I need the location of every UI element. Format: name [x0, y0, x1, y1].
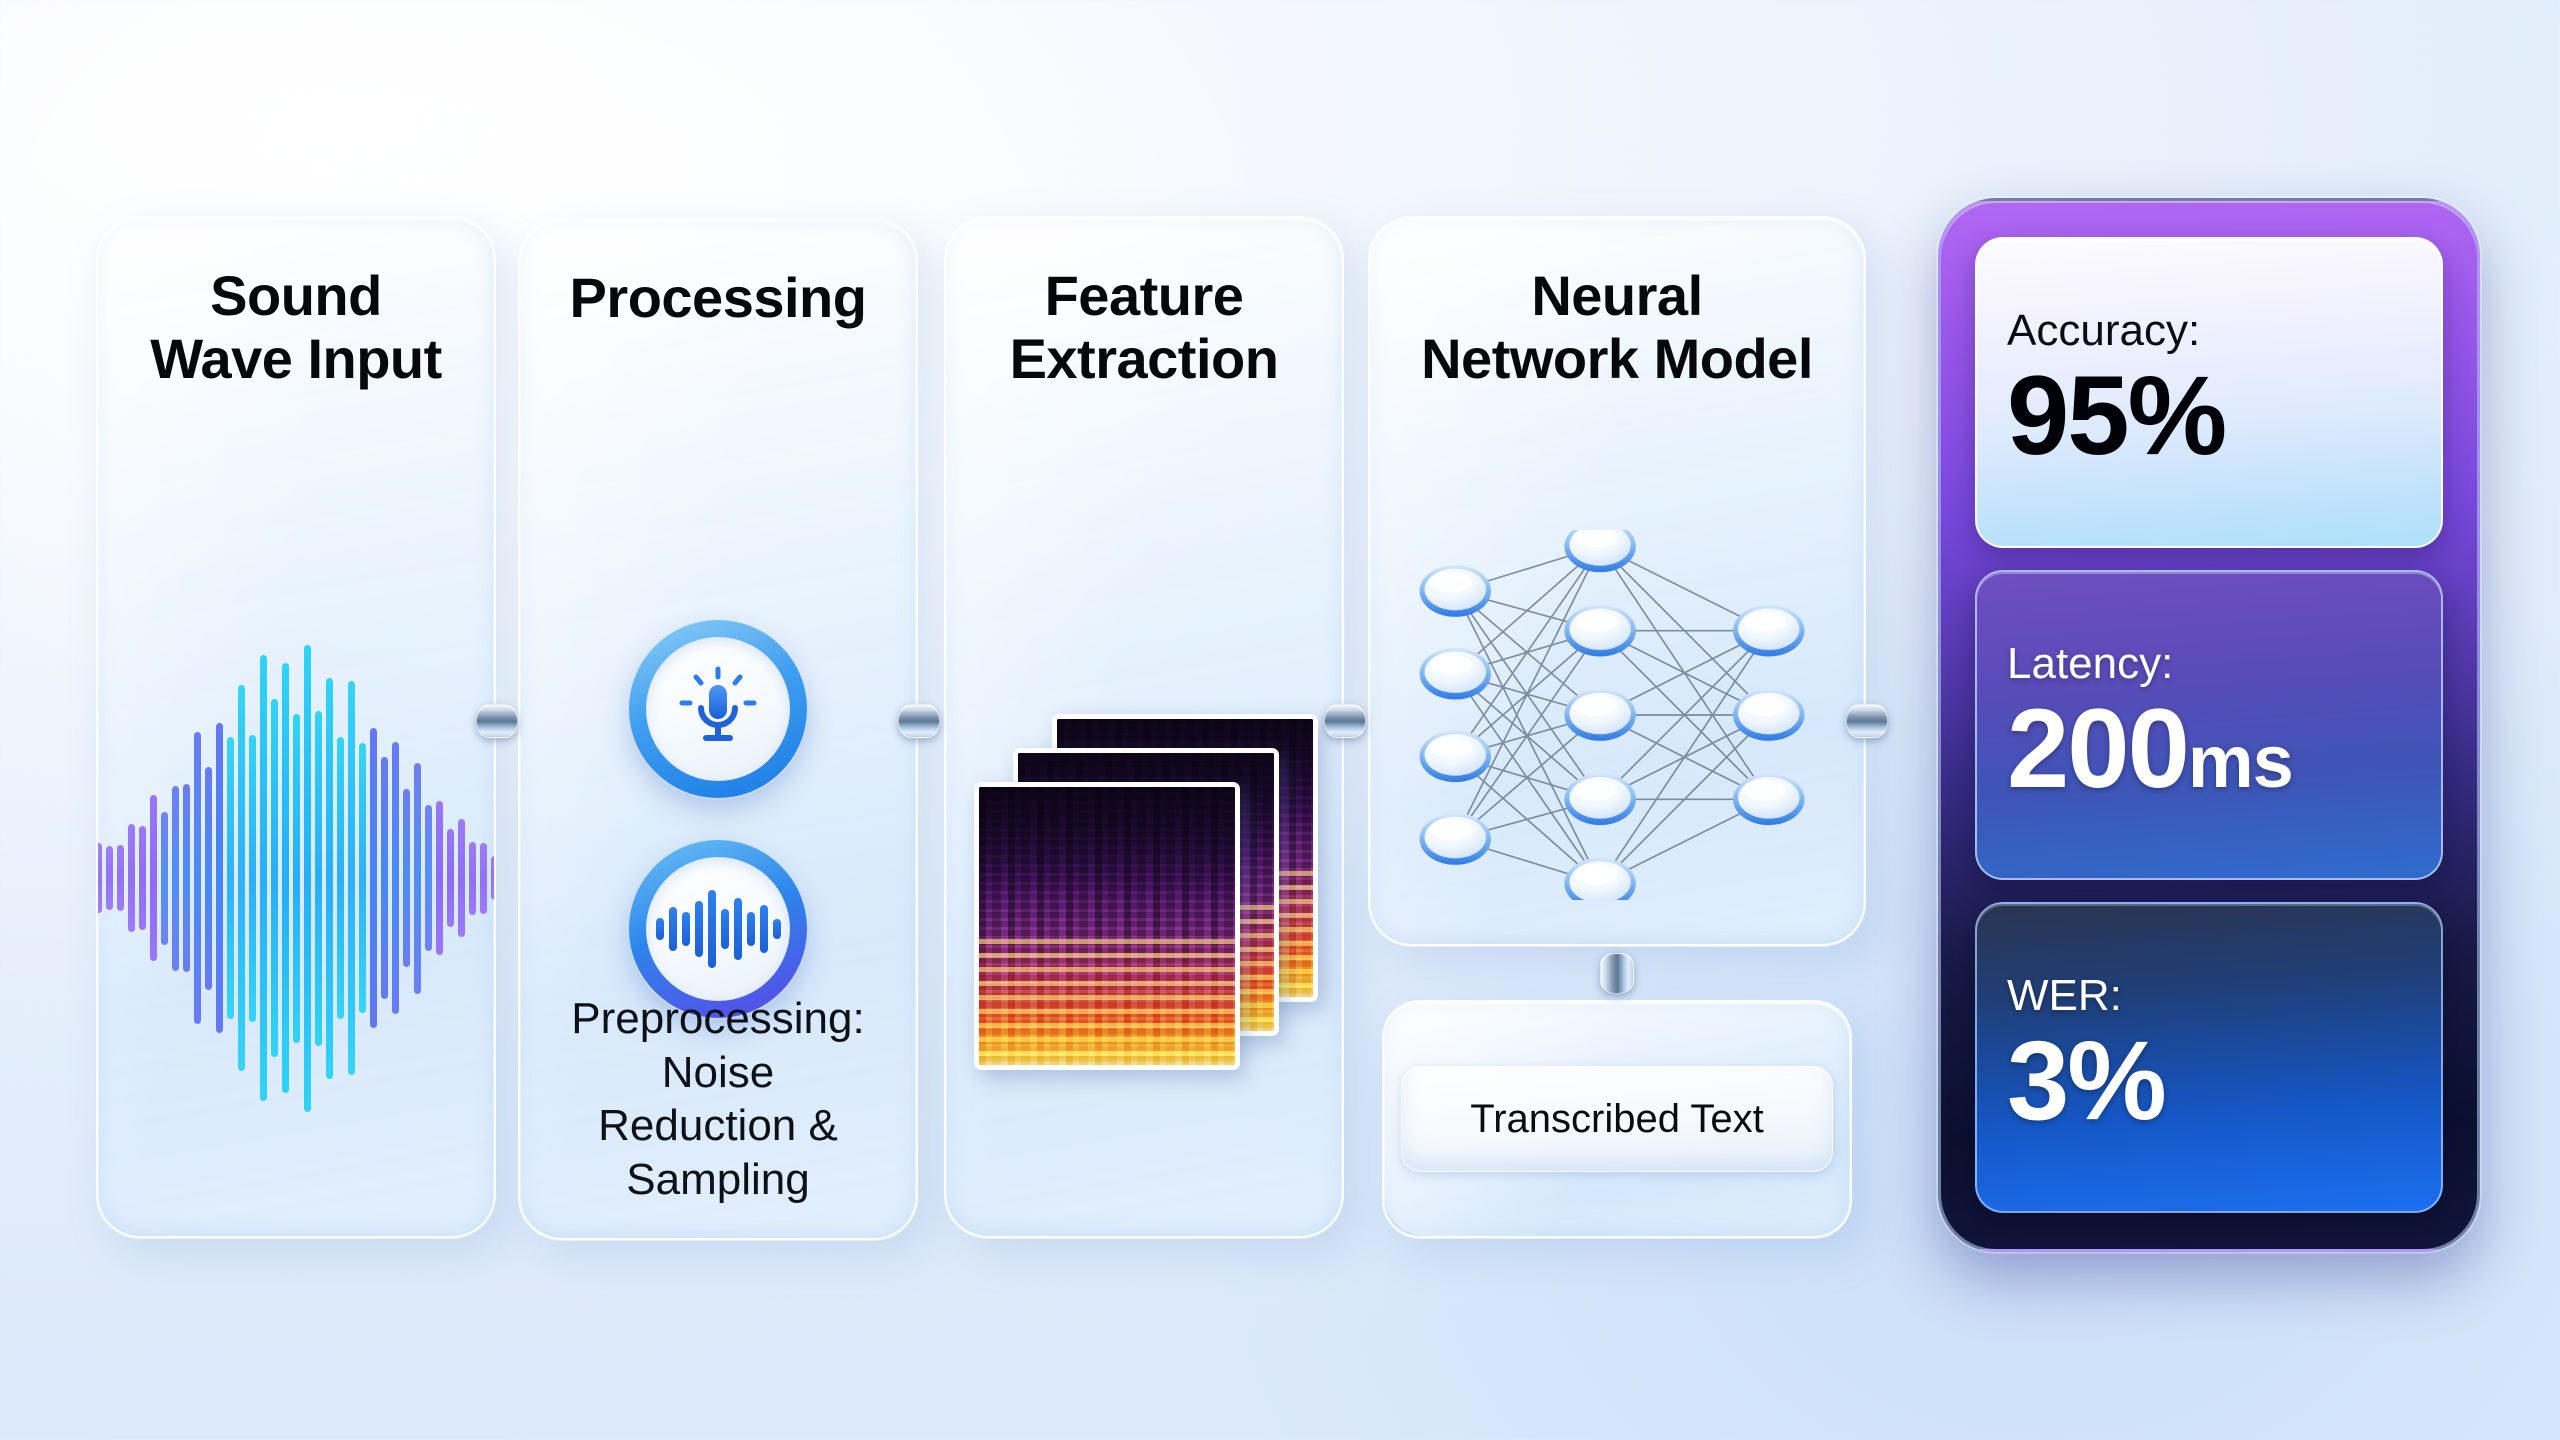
waveform-bar — [172, 786, 179, 971]
waveform-bar — [205, 767, 212, 990]
panel-title-line1: Feature — [946, 264, 1342, 327]
waveform-bar — [392, 742, 399, 1014]
metric-value-accuracy: 95% — [2007, 357, 2411, 476]
audio-waveform-icon — [114, 638, 478, 1118]
waveform-bar — [359, 743, 366, 1013]
waveform-bar — [128, 824, 135, 932]
audio-level-bar — [747, 912, 755, 946]
pipeline-diagram: Sound Wave Input Processing — [0, 0, 2560, 1440]
waveform-bar — [96, 843, 102, 913]
audio-level-bar — [721, 909, 729, 949]
neural-node — [1564, 605, 1635, 657]
metric-card-latency[interactable]: Latency: 200ms — [1975, 570, 2443, 881]
panel-title-line2: Network Model — [1370, 327, 1864, 390]
microphone-icon-button[interactable] — [629, 620, 807, 798]
waveform-bar — [348, 681, 355, 1075]
neural-node — [1733, 605, 1804, 657]
neural-node — [1420, 813, 1491, 865]
metric-value-wer: 3% — [2007, 1022, 2411, 1141]
neural-node — [1564, 689, 1635, 741]
waveform-bar — [458, 819, 465, 937]
waveform-bar — [216, 723, 223, 1033]
metric-number-wer: 3 — [2007, 1018, 2067, 1143]
neural-node — [1564, 774, 1635, 826]
metric-unit-wer: % — [2067, 1018, 2165, 1143]
audio-level-bar — [695, 901, 703, 957]
waveform-bar — [183, 784, 190, 972]
stage-panel-transcribed-output[interactable]: Transcribed Text — [1382, 1000, 1852, 1238]
metric-card-accuracy[interactable]: Accuracy: 95% — [1975, 237, 2443, 548]
waveform-bar — [469, 842, 476, 915]
audio-level-bar — [760, 905, 768, 953]
metric-value-latency: 200ms — [2007, 690, 2411, 809]
icon-ring-inner — [646, 857, 790, 1001]
connector-input-processing — [476, 704, 518, 738]
audio-level-bar — [682, 912, 690, 946]
neural-network-icon — [1370, 530, 1864, 900]
audio-level-bar — [734, 898, 742, 960]
waveform-bar — [249, 735, 256, 1022]
audio-level-bar — [669, 907, 677, 951]
neural-node — [1564, 530, 1635, 572]
connector-feature-neural — [1324, 704, 1366, 738]
stage-panel-neural-network[interactable]: Neural Network Model — [1368, 216, 1866, 946]
neural-node — [1733, 774, 1804, 826]
microphone-icon — [670, 661, 766, 757]
metric-unit-latency: ms — [2188, 720, 2293, 803]
metric-card-wer[interactable]: WER: 3% — [1975, 902, 2443, 1213]
waveform-bar — [480, 843, 487, 914]
neural-edge — [1600, 631, 1769, 884]
panel-title-line2: Wave Input — [98, 327, 494, 390]
stage-panel-processing[interactable]: Processing — [518, 218, 918, 1240]
audio-levels-icon — [656, 890, 781, 968]
audio-level-bar — [656, 918, 664, 940]
waveform-bar — [117, 845, 124, 911]
waveform-bar — [326, 678, 333, 1079]
waveform-bar — [403, 789, 410, 967]
stage-panel-feature-extraction[interactable]: Feature Extraction MFCC Feature Extracti… — [944, 216, 1344, 1238]
connector-neural-metrics — [1846, 704, 1888, 738]
panel-caption-processing: Preprocessing: Noise Reduction & Samplin… — [520, 992, 916, 1207]
waveform-bar — [491, 856, 497, 900]
panel-title-processing: Processing — [520, 266, 916, 329]
neural-node — [1420, 648, 1491, 700]
waveform-bar — [436, 801, 443, 955]
waveform-bar — [370, 728, 377, 1028]
spectrogram-image — [974, 782, 1240, 1070]
icon-ring-inner — [646, 637, 790, 781]
connector-processing-feature — [898, 704, 940, 738]
metric-number-accuracy: 95 — [2007, 353, 2128, 478]
waveform-bar — [315, 711, 322, 1046]
metric-label-latency: Latency: — [2007, 642, 2411, 686]
waveform-bar — [381, 757, 388, 999]
waveform-bar — [282, 663, 289, 1093]
waveform-bar — [293, 714, 300, 1043]
neural-node — [1733, 689, 1804, 741]
waveform-bar — [139, 826, 146, 930]
neural-node — [1420, 731, 1491, 783]
waveform-bar — [161, 812, 168, 945]
spectrogram-stack — [974, 714, 1318, 1106]
waveform-bar — [260, 655, 267, 1101]
neural-node — [1564, 858, 1635, 900]
metric-number-latency: 200 — [2007, 686, 2188, 811]
waveform-bar — [227, 737, 234, 1019]
waveform-bar — [447, 829, 454, 927]
waveform-bar — [414, 763, 421, 994]
transcribed-text-chip[interactable]: Transcribed Text — [1401, 1066, 1833, 1172]
connector-neural-output — [1600, 952, 1634, 994]
waveform-bar — [425, 805, 432, 951]
waveform-bar — [337, 737, 344, 1019]
neural-node — [1420, 565, 1491, 617]
waveform-bar — [150, 795, 157, 961]
waveform-bar — [238, 685, 245, 1071]
metric-label-accuracy: Accuracy: — [2007, 309, 2411, 353]
waveform-bar — [194, 732, 201, 1024]
metric-label-wer: WER: — [2007, 974, 2411, 1018]
panel-title-line1: Processing — [520, 266, 916, 329]
stage-panel-sound-wave-input[interactable]: Sound Wave Input — [96, 216, 496, 1238]
waveform-bar — [271, 699, 278, 1057]
audio-level-bar — [773, 919, 781, 939]
metric-unit-accuracy: % — [2128, 353, 2226, 478]
performance-metrics-panel[interactable]: Accuracy: 95% Latency: 200ms WER: 3% — [1938, 198, 2480, 1252]
audio-level-bar — [708, 890, 716, 968]
waveform-bar — [106, 846, 113, 910]
waveform-bar — [304, 645, 311, 1112]
panel-title-line1: Sound — [98, 264, 494, 327]
panel-title-line2: Extraction — [946, 327, 1342, 390]
panel-title-input: Sound Wave Input — [98, 264, 494, 391]
panel-caption-feature: MFCC Feature Extraction — [946, 1230, 1342, 1238]
panel-title-feature: Feature Extraction — [946, 264, 1342, 391]
panel-title-line1: Neural — [1370, 264, 1864, 327]
panel-title-neural: Neural Network Model — [1370, 264, 1864, 391]
